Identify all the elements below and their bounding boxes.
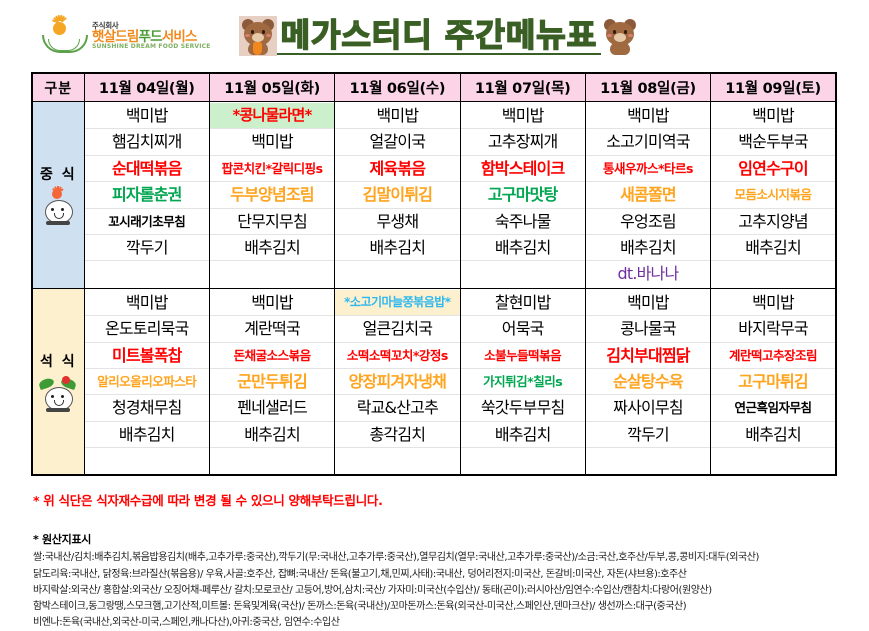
menu-cell: 백미밥얼갈이국제육볶음김말이튀김무생채배추김치 — [335, 102, 460, 289]
rice-bowl-mascot-icon — [38, 188, 78, 226]
menu-item: 새콤쫄면 — [586, 182, 710, 208]
weekly-menu-table: 구분 11월 04일(월) 11월 05일(화) 11월 06일(수) 11월 … — [31, 72, 837, 476]
menu-cell: 백미밥바지락무국계란떡고추장조림고구마튀김연근흑임자무침배추김치 — [711, 288, 836, 475]
menu-item: 햄김치찌개 — [85, 129, 209, 155]
origin-list: 쌀:국내산/김치:배추김치,볶음밥용김치(배추,고추가루:중국산),깍두기(무:… — [33, 550, 869, 631]
menu-item: 고추지양념 — [711, 209, 835, 235]
table-header-row: 구분 11월 04일(월) 11월 05일(화) 11월 06일(수) 11월 … — [32, 73, 836, 102]
menu-item: 고구마튀김 — [711, 369, 835, 395]
menu-item: 우엉조림 — [586, 209, 710, 235]
menu-item — [210, 448, 334, 473]
menu-item: 온도토리묵국 — [85, 316, 209, 342]
menu-item: 순대떡볶음 — [85, 156, 209, 182]
menu-item: 단무지무침 — [210, 209, 334, 235]
menu-item: 배추김치 — [711, 422, 835, 448]
menu-item: 모듬소시지볶음 — [711, 182, 835, 208]
menu-item: 돈채굴소스볶음 — [210, 343, 334, 369]
column-header-sat: 11월 09일(토) — [711, 73, 836, 102]
menu-item: 배추김치 — [711, 235, 835, 261]
column-header-wed: 11월 06일(수) — [335, 73, 460, 102]
menu-item: 배추김치 — [335, 235, 459, 261]
column-header-mon: 11월 04일(월) — [84, 73, 209, 102]
menu-item: 배추김치 — [210, 422, 334, 448]
logo-sub-line: SUNSHINE DREAM FOOD SERVICE — [92, 44, 211, 50]
menu-item: 깍두기 — [85, 235, 209, 261]
menu-item — [210, 261, 334, 286]
menu-item: 배추김치 — [461, 235, 585, 261]
menu-item: 백미밥 — [711, 290, 835, 316]
menu-item: 피자롤춘권 — [85, 182, 209, 208]
menu-item: 백미밥 — [85, 103, 209, 129]
menu-item — [85, 261, 209, 286]
menu-item: 백미밥 — [335, 103, 459, 129]
menu-item: 양장피겨자냉채 — [335, 369, 459, 395]
column-header-fri: 11월 08일(금) — [585, 73, 710, 102]
menu-item: 콩나물국 — [586, 316, 710, 342]
menu-row: 석 식백미밥온도토리묵국미트볼폭찹알리오올리오파스타청경채무침배추김치 백미밥계… — [32, 288, 836, 475]
menu-item: 백미밥 — [85, 290, 209, 316]
menu-item: 통새우까스*타르s — [586, 156, 710, 182]
origin-line: 쌀:국내산/김치:배추김치,볶음밥용김치(배추,고추가루:중국산),깍두기(무:… — [33, 550, 869, 566]
menu-item: 고추장찌개 — [461, 129, 585, 155]
page-header: 주식회사 햇살드림푸드서비스 SUNSHINE DREAM FOOD SERVI… — [0, 0, 869, 72]
menu-cell: *소고기마늘쫑볶음밥*얼큰김치국소떡소떡꼬치*강정s양장피겨자냉채락교&산고추총… — [335, 288, 460, 475]
menu-item — [711, 261, 835, 286]
salad-mascot-icon — [38, 375, 78, 413]
menu-item: 찰현미밥 — [461, 290, 585, 316]
menu-item: 백미밥 — [210, 290, 334, 316]
origin-line: 함박스테이크,동그랑땡,스모크햄,고기산적,미트볼: 돈육및계육(국산)/ 돈까… — [33, 599, 869, 615]
menu-item: 계란떡고추장조림 — [711, 343, 835, 369]
menu-body: 중 식백미밥햄김치찌개순대떡볶음피자롤춘권꼬시래기초무침깍두기 *콩나물라면*백… — [32, 102, 836, 476]
origin-line: 바지락살:외국산/ 홍합살:외국산/ 오징어채-페루산/ 갈치:모로코산/ 고등… — [33, 583, 869, 599]
menu-item — [461, 448, 585, 473]
menu-item: 배추김치 — [85, 422, 209, 448]
company-logo: 주식회사 햇살드림푸드서비스 SUNSHINE DREAM FOOD SERVI… — [40, 16, 211, 56]
bear-icon — [601, 16, 639, 56]
menu-item — [711, 448, 835, 473]
menu-item: 미트볼폭찹 — [85, 343, 209, 369]
menu-item: 계란떡국 — [210, 316, 334, 342]
menu-item: 얼갈이국 — [335, 129, 459, 155]
meal-label-dinner: 석 식 — [32, 288, 84, 475]
menu-row: 중 식백미밥햄김치찌개순대떡볶음피자롤춘권꼬시래기초무침깍두기 *콩나물라면*백… — [32, 102, 836, 289]
title-block: 메가스터디 주간메뉴표 — [239, 16, 640, 56]
menu-item: 짜사이무침 — [586, 395, 710, 421]
menu-item: 제육볶음 — [335, 156, 459, 182]
menu-item: 두부양념조림 — [210, 182, 334, 208]
menu-item: *소고기마늘쫑볶음밥* — [335, 290, 459, 316]
menu-item: 배추김치 — [586, 235, 710, 261]
menu-item: 군만두튀김 — [210, 369, 334, 395]
menu-cell: 백미밥백순두부국임연수구이모듬소시지볶음고추지양념배추김치 — [711, 102, 836, 289]
menu-item: 얼큰김치국 — [335, 316, 459, 342]
menu-item: 임연수구이 — [711, 156, 835, 182]
column-header-thu: 11월 07일(목) — [460, 73, 585, 102]
column-header-category: 구분 — [32, 73, 84, 102]
menu-item: 팝콘치킨*갈릭디핑s — [210, 156, 334, 182]
menu-item: 배추김치 — [461, 422, 585, 448]
menu-cell: 백미밥햄김치찌개순대떡볶음피자롤춘권꼬시래기초무침깍두기 — [84, 102, 209, 289]
menu-item: 락교&산고추 — [335, 395, 459, 421]
menu-item — [335, 261, 459, 286]
menu-item: 백미밥 — [461, 103, 585, 129]
menu-item: 백미밥 — [210, 129, 334, 155]
menu-cell: *콩나물라면*백미밥팝콘치킨*갈릭디핑s두부양념조림단무지무침배추김치 — [209, 102, 334, 289]
menu-item: *콩나물라면* — [210, 103, 334, 129]
menu-cell: 백미밥고추장찌개함박스테이크고구마맛탕숙주나물배추김치 — [460, 102, 585, 289]
menu-item: 숙주나물 — [461, 209, 585, 235]
menu-item: 백순두부국 — [711, 129, 835, 155]
page-title: 메가스터디 주간메뉴표 — [277, 17, 602, 56]
menu-cell: 백미밥온도토리묵국미트볼폭찹알리오올리오파스타청경채무침배추김치 — [84, 288, 209, 475]
menu-item — [85, 448, 209, 473]
menu-item: 소불누들떡볶음 — [461, 343, 585, 369]
menu-item: 무생채 — [335, 209, 459, 235]
menu-item: 알리오올리오파스타 — [85, 369, 209, 395]
origin-title: * 원산지표시 — [33, 531, 869, 547]
menu-cell: 백미밥계란떡국돈채굴소스볶음군만두튀김펜네샐러드배추김치 — [209, 288, 334, 475]
menu-item: 쑥갓두부무침 — [461, 395, 585, 421]
menu-item: 어묵국 — [461, 316, 585, 342]
origin-line: 닭도리육:국내산, 닭정육:브라질산(볶음용)/ 우육,사골:호주산, 잡뼈:국… — [33, 567, 869, 583]
menu-item: 백미밥 — [586, 103, 710, 129]
menu-item: 펜네샐러드 — [210, 395, 334, 421]
menu-item: 소떡소떡꼬치*강정s — [335, 343, 459, 369]
menu-item: 소고기미역국 — [586, 129, 710, 155]
menu-cell: 백미밥콩나물국김치부대찜닭순살탕수육짜사이무침깍두기 — [585, 288, 710, 475]
menu-item: 깍두기 — [586, 422, 710, 448]
menu-item: 가지튀김*칠리s — [461, 369, 585, 395]
menu-item: 바지락무국 — [711, 316, 835, 342]
meal-label-lunch: 중 식 — [32, 102, 84, 289]
menu-item: 배추김치 — [210, 235, 334, 261]
meal-label-text: 중 식 — [33, 164, 84, 184]
menu-item: 순살탕수육 — [586, 369, 710, 395]
menu-item: 총각김치 — [335, 422, 459, 448]
menu-item: 백미밥 — [586, 290, 710, 316]
column-header-tue: 11월 05일(화) — [209, 73, 334, 102]
menu-cell: 백미밥소고기미역국통새우까스*타르s새콤쫄면우엉조림배추김치dt.바나나 — [585, 102, 710, 289]
menu-item: 김치부대찜닭 — [586, 343, 710, 369]
menu-item: 청경채무침 — [85, 395, 209, 421]
menu-item: 꼬시래기초무침 — [85, 209, 209, 235]
menu-cell: 찰현미밥어묵국소불누들떡볶음가지튀김*칠리s쑥갓두부무침배추김치 — [460, 288, 585, 475]
menu-item — [335, 448, 459, 473]
menu-item: 백미밥 — [711, 103, 835, 129]
menu-item — [461, 261, 585, 286]
menu-item: dt.바나나 — [586, 261, 710, 286]
menu-item: 함박스테이크 — [461, 156, 585, 182]
bear-with-carrot-icon — [239, 16, 277, 56]
sun-hand-icon — [40, 16, 86, 56]
menu-item: 고구마맛탕 — [461, 182, 585, 208]
menu-item: 김말이튀김 — [335, 182, 459, 208]
meal-label-text: 석 식 — [33, 351, 84, 371]
origin-line: 비엔나:돈육(국내산,외국산-미국,스페인,캐나다산),아귀:중국산, 임연수:… — [33, 615, 869, 631]
menu-item: 연근흑임자무침 — [711, 395, 835, 421]
change-notice: * 위 식단은 식자재수급에 따라 변경 될 수 있으니 양해부탁드립니다. — [33, 490, 869, 509]
menu-item — [586, 448, 710, 473]
